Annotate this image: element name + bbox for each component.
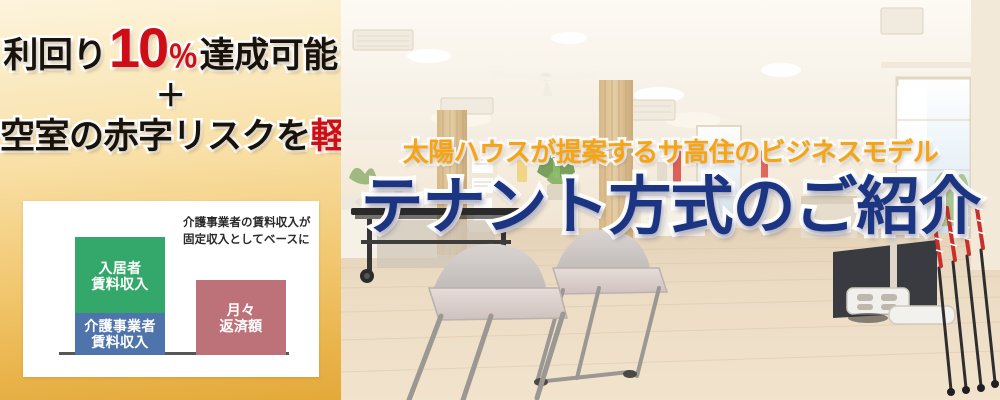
promo-yield-number: 10 (109, 26, 167, 70)
promo-plus-sign: ＋ (0, 80, 341, 114)
bar-repay-label-1: 月々 (220, 302, 263, 318)
promo-yield-suffix: 達成可能 (200, 35, 338, 77)
income-expense-chart-card: 入居者 賃料収入 介護事業者 賃料収入 月々 返済額 (23, 201, 319, 377)
bar-resident-label-2: 賃料収入 (91, 276, 148, 292)
left-promo-panel: 利回り10％達成可能 ＋ 空室の赤字リスクを軽減 入居者 賃料収入 (0, 0, 341, 400)
facility-interior-photo (341, 0, 1000, 400)
bar-repay-label-2: 返済額 (220, 318, 263, 334)
promo-headline-block: 利回り10％達成可能 ＋ 空室の赤字リスクを軽減 (0, 26, 341, 159)
promo-risk-highlight: 軽減 (311, 117, 341, 156)
chart-annotation-note: 介護事業者の賃料収入が 固定収入としてベースに (183, 215, 313, 249)
bar-resident-rent-income: 入居者 賃料収入 (75, 237, 165, 315)
chart-plot-area: 入居者 賃料収入 介護事業者 賃料収入 月々 返済額 (23, 201, 319, 377)
bar-resident-label-1: 入居者 (91, 260, 148, 276)
promo-risk-text: 空室の赤字リスクを (0, 117, 311, 156)
promo-yield-percent: ％ (168, 37, 198, 79)
bar-care-provider-rent-income: 介護事業者 賃料収入 (75, 313, 165, 355)
promo-yield-prefix: 利回り (3, 35, 107, 77)
bar-care-label-2: 賃料収入 (84, 334, 156, 350)
promo-risk-line: 空室の赤字リスクを軽減 (0, 115, 341, 159)
bar-care-label-1: 介護事業者 (84, 318, 156, 334)
chart-note-line-1: 介護事業者の賃料収入が (183, 215, 313, 232)
promo-yield-line: 利回り10％達成可能 (0, 26, 341, 79)
chart-note-line-2: 固定収入としてベースに (183, 232, 313, 249)
promotional-banner: 利回り10％達成可能 ＋ 空室の赤字リスクを軽減 入居者 賃料収入 (0, 0, 1000, 400)
bar-monthly-repayment: 月々 返済額 (196, 280, 286, 355)
